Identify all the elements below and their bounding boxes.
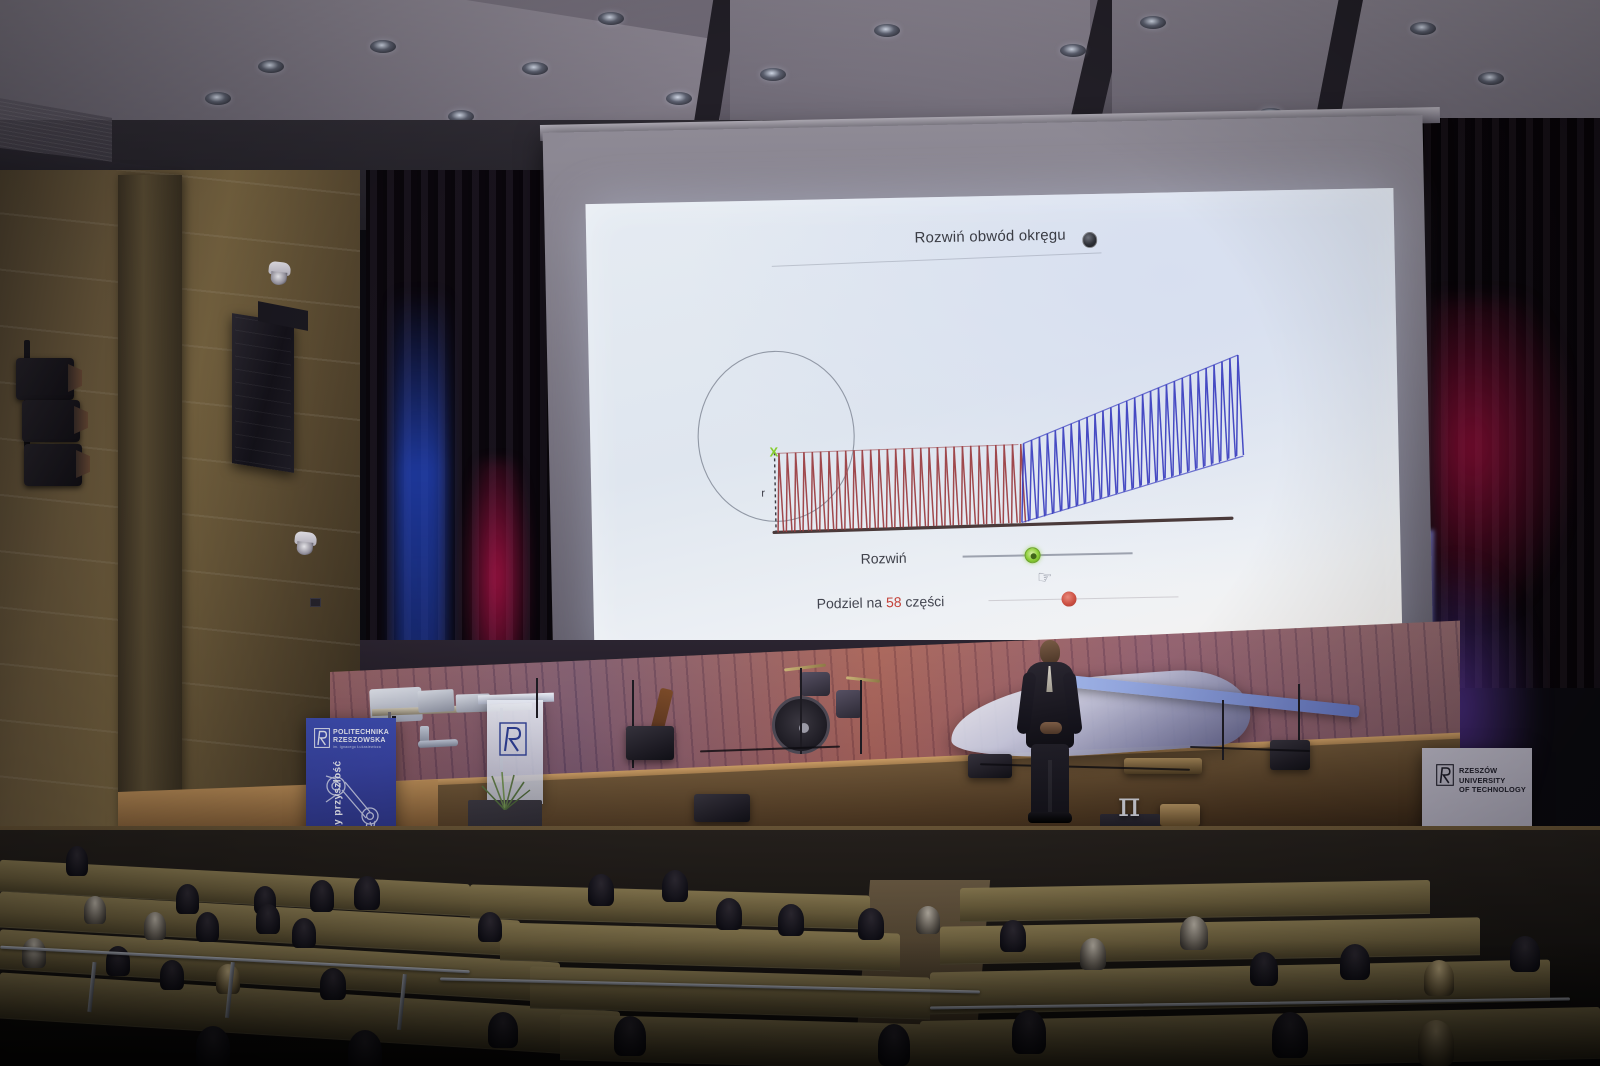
- chair: [418, 726, 458, 770]
- audience-member: [1424, 960, 1454, 996]
- audience-member: [1418, 1020, 1454, 1066]
- stage-light-rig: [6, 340, 116, 490]
- audience-member: [878, 1024, 910, 1066]
- audience-member: [1250, 952, 1278, 986]
- ceiling-downlight: [522, 62, 548, 75]
- audience-member: [1510, 936, 1540, 972]
- audience-member: [22, 938, 46, 968]
- audience-member: [488, 1012, 518, 1048]
- ceiling-downlight: [1410, 22, 1436, 35]
- audience-member: [778, 904, 804, 936]
- unroll-slider-track[interactable]: ☞: [963, 552, 1133, 557]
- pi-symbol-sculpture: π: [1118, 788, 1140, 822]
- stage-monitor: [1270, 740, 1310, 770]
- vertex-marker: X: [769, 444, 778, 459]
- floor-tom: [836, 690, 862, 718]
- ceiling-downlight: [258, 60, 284, 73]
- audience-member: [84, 896, 106, 924]
- hand-cursor-icon: ☞: [1036, 567, 1053, 588]
- decorative-plant: [472, 770, 538, 810]
- unroll-slider-knob[interactable]: [1024, 547, 1040, 563]
- audience-member: [176, 884, 199, 914]
- presenter: [1018, 640, 1082, 825]
- radius-label: r: [761, 488, 765, 500]
- presenter-head: [1040, 640, 1060, 664]
- prz-logo-icon: [499, 722, 527, 756]
- audience-member: [354, 876, 380, 910]
- audience-member: [310, 880, 334, 912]
- projection-screen: Rozwiń obwód okręgu r X Rozwiń: [585, 188, 1402, 664]
- audience-member: [292, 918, 316, 948]
- audience-member: [716, 898, 742, 930]
- unroll-slider-label: Rozwiń: [861, 550, 907, 567]
- divide-slider-track[interactable]: [988, 596, 1178, 601]
- ceiling-downlight: [1140, 16, 1166, 29]
- auditorium-photo: Rozwiń obwód okręgu r X Rozwiń: [0, 0, 1600, 1066]
- wall-column: [118, 175, 182, 875]
- audience-member: [614, 1016, 646, 1056]
- stage-curtain-right: [1420, 118, 1600, 688]
- wall-plate: [310, 598, 321, 607]
- stage-light-fixture: [16, 358, 74, 400]
- ceiling-downlight: [874, 24, 900, 37]
- ceiling-downlight: [205, 92, 231, 105]
- audience-member: [662, 870, 688, 902]
- audience-member: [1080, 938, 1106, 970]
- audience-member: [160, 960, 184, 990]
- ceiling-downlight: [370, 40, 396, 53]
- stage-light-fixture: [22, 400, 80, 442]
- lectern-mic-stand: [536, 678, 538, 718]
- audience-member: [196, 1026, 230, 1066]
- ceiling-downlight: [666, 92, 692, 105]
- audience-member: [1340, 944, 1370, 980]
- equipment-case: [1160, 804, 1200, 826]
- audience-member: [196, 912, 219, 942]
- audience-member: [1272, 1012, 1308, 1058]
- presenter-shoes: [1028, 812, 1072, 823]
- mic-stand: [1222, 700, 1224, 760]
- guitar-amp: [626, 726, 674, 760]
- presenter-hands: [1040, 722, 1062, 734]
- audience-member: [588, 874, 614, 906]
- ceiling-downlight: [1060, 44, 1086, 57]
- stage-monitor: [968, 754, 1012, 778]
- audience-member: [1000, 920, 1026, 952]
- divide-slider-knob[interactable]: [1061, 591, 1076, 606]
- cymbal-stand: [860, 680, 862, 754]
- ceiling-downlight: [598, 12, 624, 25]
- laptop: [417, 689, 454, 713]
- audience-member: [478, 912, 502, 942]
- line-array-speaker: [232, 313, 294, 473]
- audience-member: [66, 846, 88, 876]
- equipment-case: [1124, 758, 1202, 774]
- prz-logo-icon: [314, 728, 330, 748]
- audience-member: [320, 968, 346, 1000]
- banner-right-university: RZESZÓW UNIVERSITY OF TECHNOLOGY: [1459, 766, 1532, 795]
- audience-member: [348, 1030, 382, 1066]
- stage-curtain-left: [366, 170, 566, 690]
- banner-left-university: POLITECHNIKA RZESZOWSKA im. Ignacego Łuk…: [333, 729, 389, 749]
- presenter-legs: [1031, 744, 1069, 816]
- rack-tom: [800, 672, 830, 696]
- audience-member: [144, 912, 166, 940]
- ceiling-downlight: [760, 68, 786, 81]
- stage-monitor: [694, 794, 750, 822]
- audience-member: [1012, 1010, 1046, 1054]
- ceiling-downlight: [1478, 72, 1504, 85]
- audience-member: [858, 908, 884, 940]
- stage-light-fixture: [24, 444, 82, 486]
- divide-slider-label: Podziel na 58 części: [817, 593, 945, 612]
- prz-logo-icon: [1436, 764, 1454, 786]
- ptz-camera-icon: [263, 261, 296, 292]
- ptz-camera-icon: [289, 531, 322, 562]
- cymbal-stand: [800, 668, 802, 754]
- audience-member: [256, 904, 280, 934]
- audience-member: [916, 906, 940, 934]
- audience-member: [1180, 916, 1208, 950]
